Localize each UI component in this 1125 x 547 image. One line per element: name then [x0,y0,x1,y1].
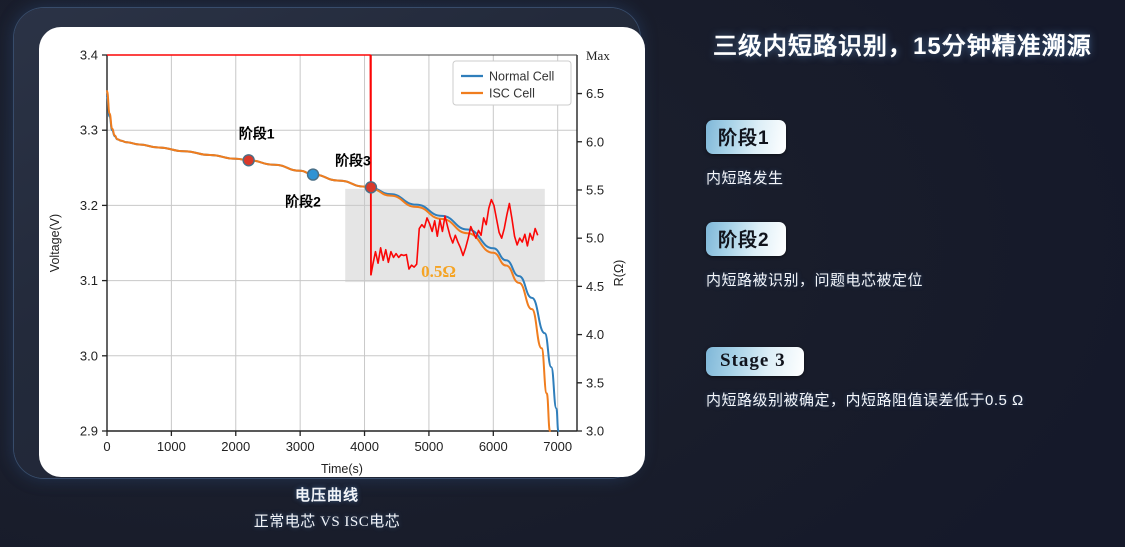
y2-tick-label: 5.0 [586,231,604,246]
chart-caption: 电压曲线 正常电芯 VS ISC电芯 [14,484,640,531]
y2-tick-label: 3.5 [586,375,604,390]
stage-marker-label-1: 阶段1 [239,125,275,141]
stage-badge-3: Stage 3 [706,347,804,376]
chart-card-frame: 2.93.03.13.23.33.40100020003000400050006… [14,8,640,478]
y2-tick-label: 6.0 [586,134,604,149]
y2-tick-label: 4.5 [586,279,604,294]
x-tick-label: 1000 [157,439,186,454]
stage-badge-1: 阶段1 [706,120,786,154]
resistance-annotation: 0.5Ω [421,262,456,281]
y-axis-title: Voltage(V) [48,214,62,272]
y-tick-label: 2.9 [80,424,98,439]
stage-marker-label-3: 阶段3 [335,152,371,168]
x-tick-label: 0 [103,439,110,454]
stage-marker-1 [243,155,254,166]
legend-label-1: Normal Cell [489,70,554,84]
stage-block-3: Stage 3 内短路级别被确定，内短路阻值误差低于0.5 Ω [706,347,1024,410]
y-tick-label: 3.2 [80,198,98,213]
y2-max-label: Max [586,48,610,63]
stage-marker-3 [365,182,376,193]
y2-tick-label: 3.0 [586,424,604,439]
x-axis-title: Time(s) [321,462,363,476]
y-tick-label: 3.1 [80,273,98,288]
x-tick-label: 5000 [414,439,443,454]
stage-marker-2 [308,169,319,180]
x-tick-label: 3000 [286,439,315,454]
y2-axis-title: R(Ω) [612,260,626,287]
caption-line-1: 电压曲线 [14,484,640,505]
chart-svg: 2.93.03.13.23.33.40100020003000400050006… [39,27,645,477]
stage-desc-2: 内短路被识别，问题电芯被定位 [706,269,923,290]
info-panel: 三级内短路识别，15分钟精准溯源 阶段1 内短路发生 阶段2 内短路被识别，问题… [700,0,1125,547]
x-tick-label: 4000 [350,439,379,454]
x-tick-label: 7000 [543,439,572,454]
page-root: 2.93.03.13.23.33.40100020003000400050006… [0,0,1125,547]
x-tick-label: 6000 [479,439,508,454]
y-tick-label: 3.4 [80,48,98,63]
y-tick-label: 3.3 [80,123,98,138]
caption-line-2: 正常电芯 VS ISC电芯 [14,510,640,531]
stage-block-1: 阶段1 内短路发生 [706,120,786,188]
chart-card-inner: 2.93.03.13.23.33.40100020003000400050006… [39,27,645,477]
stage-badge-2: 阶段2 [706,222,786,256]
y2-tick-label: 6.5 [586,86,604,101]
stage-block-2: 阶段2 内短路被识别，问题电芯被定位 [706,222,923,290]
y2-tick-label: 4.0 [586,327,604,342]
y2-tick-label: 5.5 [586,182,604,197]
stage-desc-1: 内短路发生 [706,167,786,188]
stage-desc-3: 内短路级别被确定，内短路阻值误差低于0.5 Ω [706,389,1024,410]
legend-label-2: ISC Cell [489,87,535,101]
voltage-curve-chart: 2.93.03.13.23.33.40100020003000400050006… [39,27,645,477]
y-tick-label: 3.0 [80,348,98,363]
panel-headline: 三级内短路识别，15分钟精准溯源 [713,26,1092,61]
x-tick-label: 2000 [221,439,250,454]
stage-marker-label-2: 阶段2 [285,194,321,210]
